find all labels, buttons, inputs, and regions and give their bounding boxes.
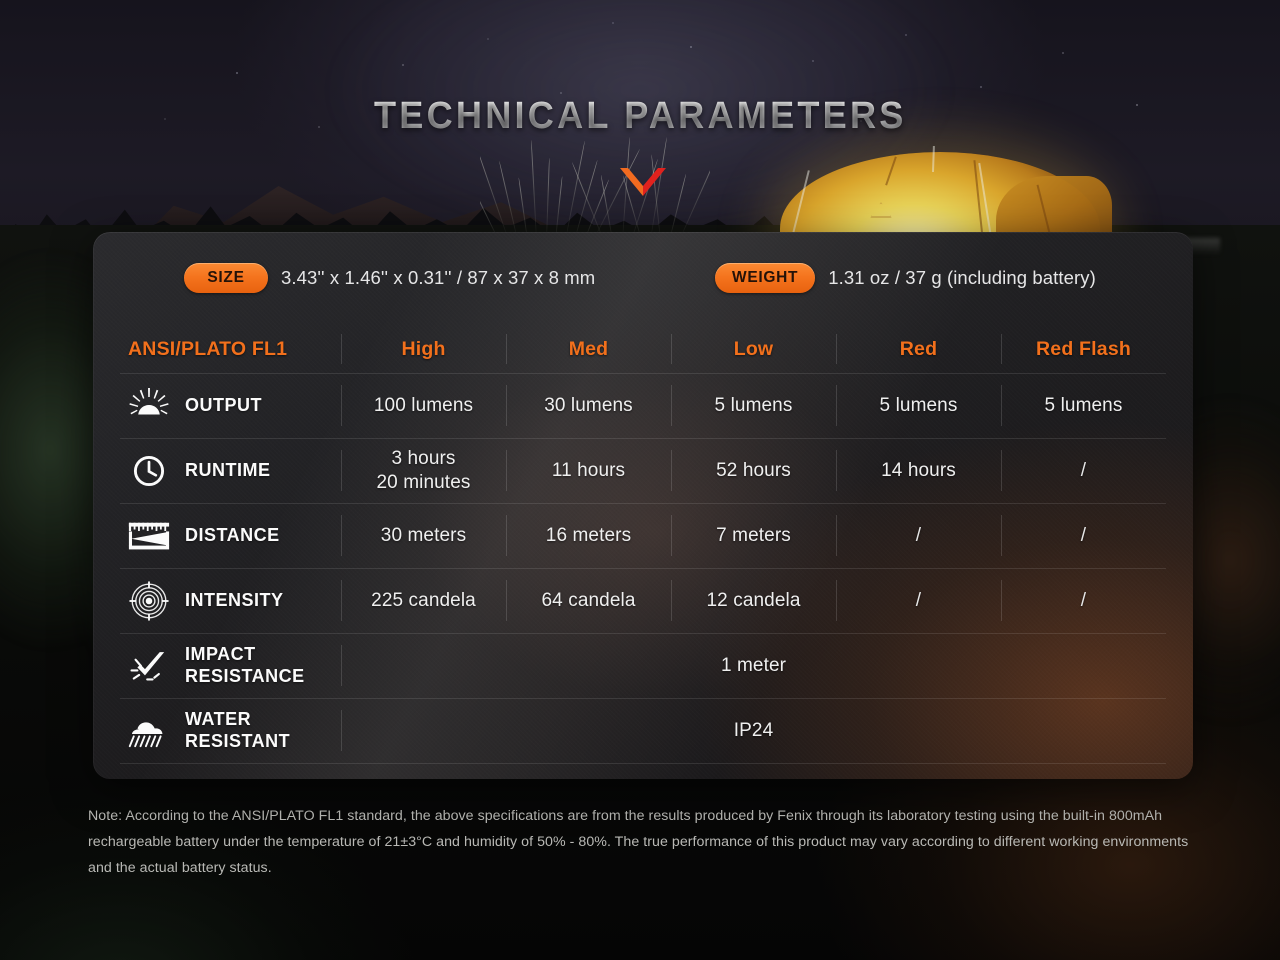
row-value-cell: 100 lumens bbox=[341, 373, 506, 438]
star bbox=[487, 38, 489, 40]
row-label-text: INTENSITY bbox=[185, 590, 284, 611]
specifications-table: ANSI/PLATO FL1 High Med Low Red Red Flas… bbox=[120, 326, 1166, 764]
table-row: IMPACT RESISTANCE1 meter bbox=[120, 633, 1166, 698]
row-value-cell: / bbox=[836, 568, 1001, 633]
column-header-low: Low bbox=[671, 326, 836, 373]
row-label-cell: INTENSITY bbox=[120, 568, 341, 633]
page-title: TECHNICAL PARAMETERS bbox=[374, 95, 907, 138]
star bbox=[236, 72, 238, 74]
row-value-cell: 30 meters bbox=[341, 503, 506, 568]
row-value-cell: 52 hours bbox=[671, 438, 836, 503]
size-pill-badge: SIZE bbox=[184, 263, 268, 293]
table-row: WATER RESISTANTIP24 bbox=[120, 698, 1166, 763]
row-label-text: DISTANCE bbox=[185, 525, 280, 546]
size-summary: SIZE 3.43'' x 1.46'' x 0.31'' / 87 x 37 … bbox=[184, 263, 595, 293]
row-value-cell: 30 lumens bbox=[506, 373, 671, 438]
grass-blade bbox=[480, 146, 509, 240]
page-heading: TECHNICAL PARAMETERS bbox=[0, 95, 1280, 138]
star bbox=[690, 46, 692, 48]
summary-row: SIZE 3.43'' x 1.46'' x 0.31'' / 87 x 37 … bbox=[93, 232, 1193, 326]
row-value-cell: IP24 bbox=[341, 698, 1166, 763]
row-value-cell: 16 meters bbox=[506, 503, 671, 568]
weight-pill-badge: WEIGHT bbox=[715, 263, 815, 293]
star bbox=[402, 64, 404, 66]
technical-parameters-panel: SIZE 3.43'' x 1.46'' x 0.31'' / 87 x 37 … bbox=[93, 232, 1193, 779]
row-value-cell: 5 lumens bbox=[671, 373, 836, 438]
row-value-cell: 3 hours20 minutes bbox=[341, 438, 506, 503]
row-label-cell: WATER RESISTANT bbox=[120, 698, 341, 763]
row-label-text: WATER RESISTANT bbox=[185, 709, 290, 751]
row-value-cell: / bbox=[1001, 568, 1166, 633]
row-label-text: IMPACT RESISTANCE bbox=[185, 644, 305, 686]
row-value-cell: 5 lumens bbox=[1001, 373, 1166, 438]
row-value-cell: 12 candela bbox=[671, 568, 836, 633]
row-value-cell: 64 candela bbox=[506, 568, 671, 633]
table-body: OUTPUT100 lumens30 lumens5 lumens5 lumen… bbox=[120, 373, 1166, 763]
weight-summary: WEIGHT 1.31 oz / 37 g (including battery… bbox=[715, 263, 1096, 293]
star bbox=[612, 22, 614, 24]
column-header-med: Med bbox=[506, 326, 671, 373]
weight-value: 1.31 oz / 37 g (including battery) bbox=[828, 267, 1096, 289]
row-value-cell: 14 hours bbox=[836, 438, 1001, 503]
column-header-red: Red bbox=[836, 326, 1001, 373]
grass-blade bbox=[555, 176, 563, 240]
row-label-cell: IMPACT RESISTANCE bbox=[120, 633, 341, 698]
impact-check-icon bbox=[128, 646, 170, 686]
table-row: OUTPUT100 lumens30 lumens5 lumens5 lumen… bbox=[120, 373, 1166, 438]
grass-blade bbox=[518, 178, 528, 240]
row-value-cell: / bbox=[1001, 503, 1166, 568]
table-row: RUNTIME3 hours20 minutes11 hours52 hours… bbox=[120, 438, 1166, 503]
row-value-cell: 11 hours bbox=[506, 438, 671, 503]
table-row: INTENSITY225 candela64 candela12 candela… bbox=[120, 568, 1166, 633]
column-header-standard: ANSI/PLATO FL1 bbox=[120, 326, 341, 373]
row-value-cell: 1 meter bbox=[341, 633, 1166, 698]
row-label-cell: OUTPUT bbox=[120, 373, 341, 438]
column-header-red-flash: Red Flash bbox=[1001, 326, 1166, 373]
chevron-down-double-icon bbox=[620, 166, 666, 196]
grass-tuft bbox=[480, 120, 710, 240]
row-label-cell: RUNTIME bbox=[120, 438, 341, 503]
star bbox=[1062, 52, 1064, 54]
table-header: ANSI/PLATO FL1 High Med Low Red Red Flas… bbox=[120, 326, 1166, 373]
footnote: Note: According to the ANSI/PLATO FL1 st… bbox=[88, 803, 1208, 881]
size-value: 3.43'' x 1.46'' x 0.31'' / 87 x 37 x 8 m… bbox=[281, 267, 595, 289]
grass-blade bbox=[679, 144, 710, 240]
row-value-cell: 225 candela bbox=[341, 568, 506, 633]
clock-runtime-icon bbox=[128, 451, 170, 491]
beam-distance-ruler-icon bbox=[128, 516, 170, 556]
column-header-high: High bbox=[341, 326, 506, 373]
rain-cloud-icon bbox=[128, 711, 170, 751]
star bbox=[980, 86, 982, 88]
target-intensity-icon bbox=[128, 581, 170, 621]
grass-blade bbox=[499, 161, 519, 240]
row-label-cell: DISTANCE bbox=[120, 503, 341, 568]
row-value-cell: / bbox=[1001, 438, 1166, 503]
sunburst-output-icon bbox=[128, 386, 170, 426]
grass-blade bbox=[546, 158, 550, 240]
table-row: DISTANCE30 meters16 meters7 meters// bbox=[120, 503, 1166, 568]
row-label-text: OUTPUT bbox=[185, 395, 262, 416]
row-value-cell: 7 meters bbox=[671, 503, 836, 568]
table-header-row: ANSI/PLATO FL1 High Med Low Red Red Flas… bbox=[120, 326, 1166, 373]
row-value-cell: 5 lumens bbox=[836, 373, 1001, 438]
star bbox=[812, 60, 814, 62]
row-value-cell: / bbox=[836, 503, 1001, 568]
row-label-text: RUNTIME bbox=[185, 460, 271, 481]
grass-blade bbox=[531, 140, 538, 240]
star bbox=[560, 92, 562, 94]
star bbox=[905, 34, 907, 36]
